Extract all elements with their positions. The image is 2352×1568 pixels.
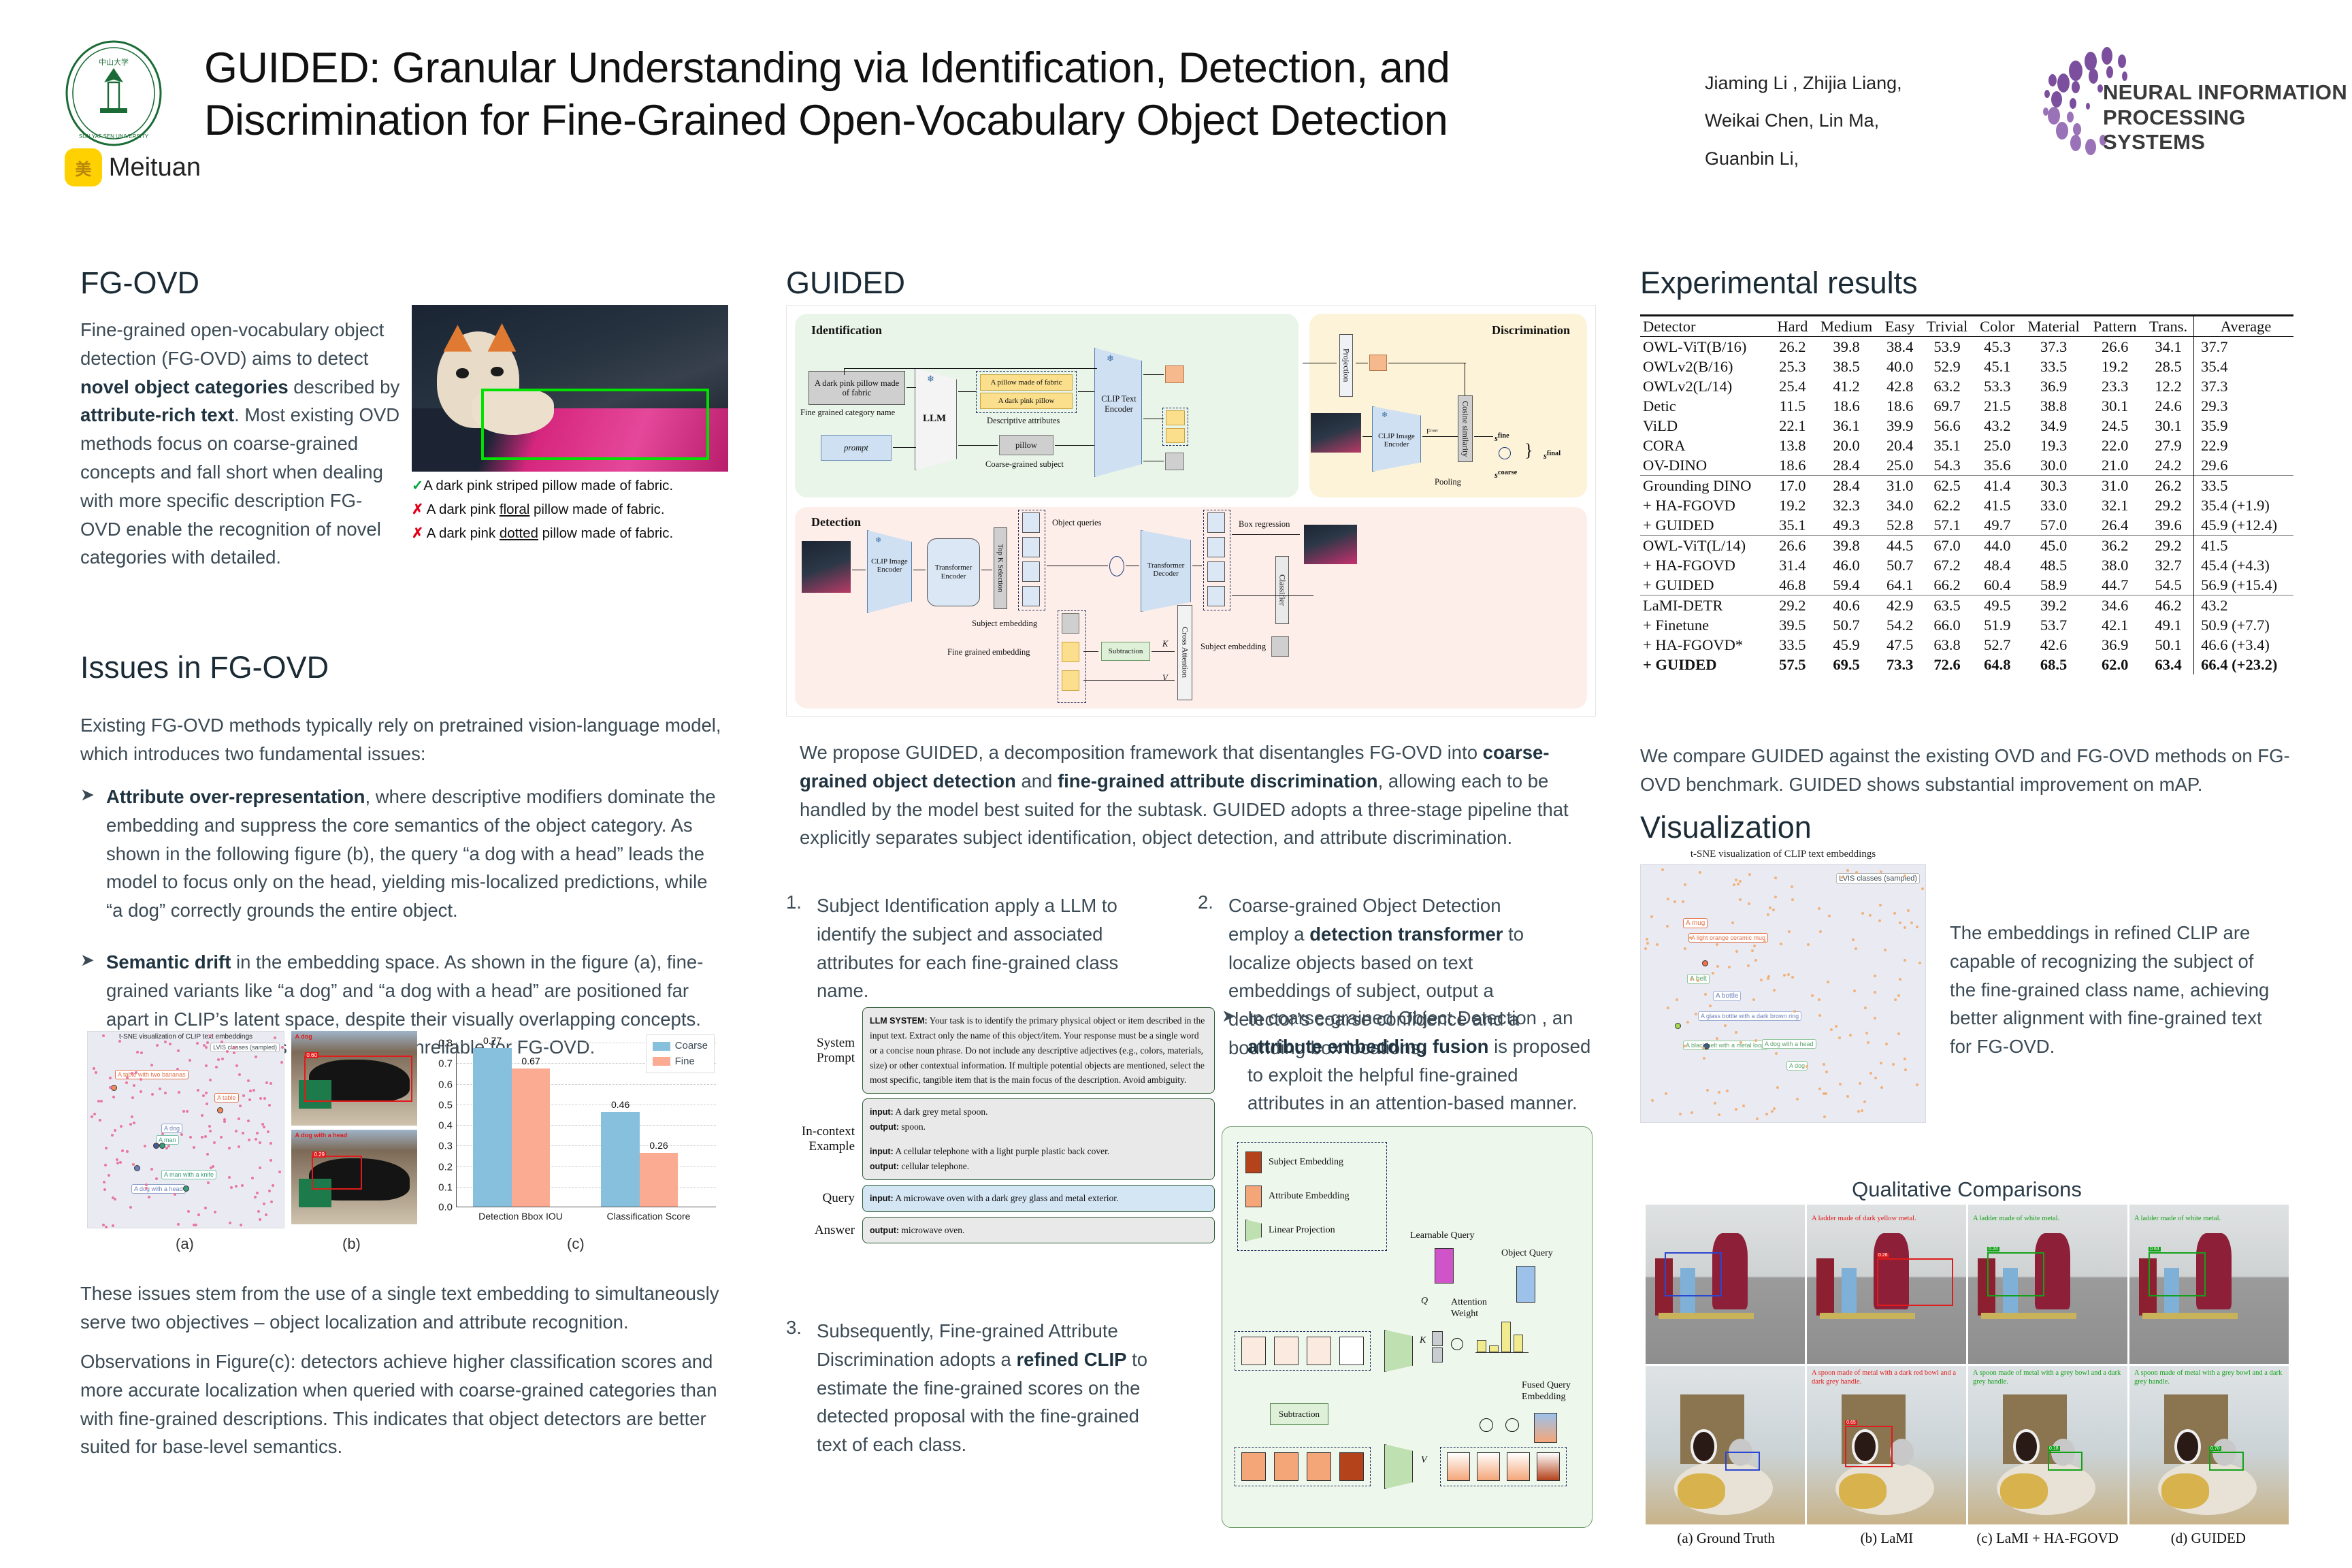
tsne-scatter-point: [91, 1115, 93, 1118]
linear-projection-v: [1384, 1444, 1413, 1489]
s-coarse-superscript: coarse: [1498, 469, 1517, 476]
prompt-side-label-answer: Answer: [786, 1217, 862, 1244]
f-conv-label: Fᶜᵒⁿᵛ: [1426, 428, 1438, 436]
table-cell: 42.9: [1880, 595, 1921, 616]
qualitative-score-badge: 0.18: [2048, 1446, 2060, 1451]
table-cell: 45.0: [2021, 536, 2087, 556]
flow-arrow: [906, 387, 916, 388]
table-row: OWL-ViT(L/14)26.639.844.567.044.045.036.…: [1640, 536, 2293, 556]
tsne-scatter-point: [1852, 938, 1855, 941]
descriptive-attributes-caption: Descriptive attributes: [987, 416, 1060, 426]
fused-query-embedding-block: [1534, 1413, 1557, 1443]
bar-chart-xtick: Classification Score: [585, 1211, 713, 1222]
qualitative-score-badge: 0.64: [2149, 1247, 2161, 1252]
tsne-scatter-point: [1892, 1063, 1895, 1066]
tsne-scatter-point: [210, 1166, 212, 1169]
cat-caption-2-underlined: floral: [500, 502, 529, 517]
table-cell: 64.1: [1880, 575, 1921, 595]
table-cell: 41.5: [1974, 495, 2021, 515]
guided-text-mid: and: [1016, 770, 1058, 791]
tsne-scatter-point: [150, 1064, 153, 1066]
bar-chart-ytick: 0.0: [438, 1202, 453, 1213]
tsne-scatter-point: [1709, 1004, 1712, 1007]
neurips-line-2: PROCESSING SYSTEMS: [2103, 105, 2352, 155]
tsne-scatter-point: [189, 1136, 192, 1139]
learnable-query-label: Learnable Query: [1410, 1230, 1474, 1241]
tsne-scatter-point: [145, 1183, 148, 1186]
table-cell: 49.3: [1813, 515, 1879, 536]
step-1-number: 1.: [786, 892, 806, 1005]
tsne-scatter-point: [1818, 998, 1820, 1001]
tsne-scatter-point: [1783, 974, 1786, 977]
table-cell: 64.8: [1974, 655, 2021, 674]
decoder-token: [1207, 586, 1225, 606]
legend-swatch-attribute-embedding: [1245, 1186, 1262, 1207]
object-queries-caption: Object queries: [1052, 518, 1102, 528]
qualitative-cell: A ladder made of dark yellow metal.0.26: [1807, 1205, 1966, 1364]
flow-arrow: [1143, 461, 1164, 461]
hose-shape: [2142, 1313, 2238, 1319]
flow-arrow: [844, 368, 845, 375]
table-cell: 19.2: [2087, 357, 2143, 376]
qualitative-bounding-box: [2048, 1452, 2082, 1471]
flow-arrow: [981, 570, 992, 570]
tsne-scatter-point: [213, 1141, 216, 1144]
ic-val-3: A cellular telephone with a light purple…: [894, 1146, 1110, 1156]
table-cell: 57.1: [1921, 515, 1974, 536]
table-row: + Finetune39.550.754.266.051.953.742.149…: [1640, 615, 2293, 635]
yellow-embedding-token: [1166, 410, 1185, 425]
table-cell: 32.3: [1813, 495, 1879, 515]
table-cell: OWL-ViT(B/16): [1640, 337, 1771, 357]
object-query-label: Object Query: [1501, 1248, 1553, 1259]
k-label: K: [1162, 639, 1168, 649]
tsne-scatter-point: [265, 1213, 267, 1216]
prompt-system-head: LLM SYSTEM:: [870, 1016, 928, 1026]
table-cell: 39.6: [2143, 515, 2194, 536]
table-cell: 26.4: [2087, 515, 2143, 536]
tsne-scatter-point: [1724, 1024, 1727, 1027]
qualitative-prediction-label: A ladder made of white metal.: [1973, 1214, 2123, 1223]
tsne-scatter-point: [131, 1115, 133, 1118]
tsne-scatter-point: [235, 1064, 238, 1067]
tsne-scatter-point: [1665, 1092, 1667, 1095]
tsne-scatter-point: [193, 1146, 195, 1149]
prompt-box: prompt: [821, 435, 892, 461]
legend-entry-fine: Fine: [653, 1054, 708, 1070]
table-cell: 60.4: [1974, 575, 2021, 595]
table-cell: 41.2: [1813, 376, 1879, 396]
flow-arrow: [844, 368, 1097, 369]
table-cell: 18.6: [1880, 396, 1921, 416]
table-cell: 23.3: [2087, 376, 2143, 396]
tsne-scatter-point: [1865, 1032, 1868, 1034]
tsne-scatter-point: [228, 1147, 231, 1149]
tsne-scatter-point: [1863, 1100, 1866, 1103]
tsne-scatter-point: [1765, 1113, 1768, 1115]
tsne-scatter-point: [1661, 868, 1664, 871]
table-cell: 33.5: [1771, 635, 1813, 655]
flow-arrow: [1143, 374, 1164, 375]
table-cell: 17.0: [1771, 476, 1813, 496]
tsne-scatter-point: [1716, 943, 1718, 946]
tsne-big-annotation-6: A dog with a head: [1762, 1039, 1816, 1049]
table-row: + HA-FGOVD19.232.334.062.241.533.032.129…: [1640, 495, 2293, 515]
tsne-scatter-point: [116, 1158, 118, 1161]
subject-embedding-caption-right: Subject embedding: [1200, 642, 1266, 652]
query-key: input:: [870, 1194, 894, 1203]
table-cell: 20.4: [1880, 436, 1921, 455]
table-header-pattern: Pattern: [2087, 316, 2143, 337]
table-body: OWL-ViT(B/16)26.239.838.453.945.337.326.…: [1640, 337, 2293, 675]
tsne-scatter-point: [1818, 1014, 1821, 1017]
legend-label-attribute-embedding: Attribute Embedding: [1269, 1191, 1350, 1202]
tsne-scatter-point: [278, 1171, 281, 1173]
grey-embedding-token: [1165, 453, 1184, 470]
table-cell: 48.5: [2021, 555, 2087, 575]
table-cell: 36.1: [1813, 416, 1879, 436]
tsne-scatter-point: [1857, 1110, 1860, 1113]
table-cell: 46.2: [2143, 595, 2194, 616]
table-cell: 29.2: [1771, 595, 1813, 616]
tsne-scatter-point: [1819, 930, 1822, 933]
table-cell: 56.6: [1921, 416, 1974, 436]
qualitative-cell: A spoon made of metal with a grey bowl a…: [2129, 1366, 2289, 1525]
tsne-scatter-point: [193, 1224, 195, 1226]
bar-value-label: 0.46: [601, 1099, 639, 1110]
tsne-scatter-point: [247, 1120, 250, 1122]
attr-token: [1307, 1337, 1331, 1365]
tsne-scatter-point: [103, 1188, 106, 1191]
table-cell: OV-DINO: [1640, 455, 1771, 476]
tsne-scatter-point: [174, 1193, 176, 1196]
clip-text-encoder-label: CLIP Text Encoder: [1098, 394, 1139, 414]
table-row: OWLv2(B/16)25.338.540.052.945.133.519.22…: [1640, 357, 2293, 376]
table-cell: 28.4: [1813, 476, 1879, 496]
s-fine-label: sfine: [1494, 432, 1509, 444]
table-cell: 33.5: [2021, 357, 2087, 376]
table-cell: 62.5: [1921, 476, 1974, 496]
table-cell: 39.5: [1771, 615, 1813, 635]
tsne-small-title: t-SNE visualization of CLIP text embeddi…: [88, 1033, 284, 1041]
figure-label-c: (c): [567, 1235, 585, 1253]
table-cell: 26.6: [1771, 536, 1813, 556]
bar-chart-ytick: 0.1: [438, 1181, 453, 1193]
subject-embedding-caption: Subject embedding: [972, 619, 1037, 629]
table-cell: 29.3: [2194, 396, 2293, 416]
table-cell: 66.0: [1921, 615, 1974, 635]
table-row: + GUIDED35.149.352.857.149.757.026.439.6…: [1640, 515, 2293, 536]
tsne-scatter-point: [207, 1181, 210, 1184]
tsne-scatter-point: [104, 1164, 107, 1166]
tsne-scatter-point: [126, 1077, 129, 1079]
tsne-scatter-point: [214, 1211, 216, 1213]
prompt-side-label-query: Query: [786, 1185, 862, 1212]
tsne-scatter-point: [1828, 915, 1831, 917]
prompt-system-body: LLM SYSTEM: Your task is to identify the…: [862, 1007, 1215, 1094]
clip-image-encoder-label: CLIP Image Encoder: [1375, 432, 1418, 448]
qualitative-prediction-label: A spoon made of metal with a grey bowl a…: [1973, 1369, 2123, 1386]
qualitative-prediction-label: A ladder made of white metal.: [2134, 1214, 2284, 1223]
tsne-scatter-point: [109, 1086, 112, 1089]
ic-spacer: [870, 1134, 1207, 1144]
svg-text:中山大学: 中山大学: [99, 57, 129, 67]
tsne-scatter-point: [1904, 1068, 1907, 1071]
snowflake-icon: ❄: [1382, 410, 1388, 419]
tsne-point-highlight: [183, 1186, 189, 1192]
arrow-bullet-icon: ➤: [1222, 1004, 1237, 1117]
table-cell: 47.5: [1880, 635, 1921, 655]
table-row: Detic11.518.618.669.721.538.830.124.629.…: [1640, 396, 2293, 416]
bar-chart-xtick: Detection Bbox IOU: [457, 1211, 585, 1222]
tsne-scatter-point: [1864, 1007, 1867, 1009]
tsne-scatter-point: [204, 1207, 207, 1209]
tsne-scatter-point: [263, 1097, 266, 1100]
tsne-scatter-point: [1735, 879, 1737, 881]
tsne-scatter-point: [140, 1078, 142, 1081]
tsne-scatter-point: [1897, 994, 1900, 997]
table-cell: 44.0: [1974, 536, 2021, 556]
tsne-scatter-point: [268, 1104, 271, 1107]
step-3-bold: refined CLIP: [1016, 1349, 1126, 1370]
q-label: Q: [1421, 1296, 1428, 1307]
tsne-scatter-point: [1835, 1025, 1837, 1028]
tsne-scatter-point: [267, 1130, 269, 1133]
table-cell: 38.8: [2021, 396, 2087, 416]
tsne-scatter-point: [161, 1132, 164, 1135]
tsne-big-plot: LVIS classes (sampled) A mug A light ora…: [1640, 864, 1926, 1123]
svg-text:SUN YAT-SEN UNIVERSITY: SUN YAT-SEN UNIVERSITY: [79, 133, 149, 140]
tsne-scatter-point: [1838, 1036, 1841, 1039]
table-cell: 21.5: [1974, 396, 2021, 416]
coarse-subject-box: pillow: [999, 435, 1053, 455]
discrimination-title: Discrimination: [1492, 323, 1570, 338]
table-cell: 33.0: [2021, 495, 2087, 515]
table-cell: + Finetune: [1640, 615, 1771, 635]
fgovd-text-pre: Fine-grained open-vocabulary object dete…: [80, 319, 384, 369]
tsne-scatter-point: [1731, 921, 1734, 924]
ic-key-1: input:: [870, 1107, 894, 1117]
bar-chart-legend: Coarse Fine: [646, 1034, 715, 1073]
flow-arrow: [1151, 651, 1175, 652]
tsne-scatter-point: [1697, 979, 1699, 982]
tsne-scatter-point: [248, 1098, 251, 1101]
tsne-scatter-point: [269, 1082, 272, 1085]
cross-icon: ✗: [412, 502, 423, 517]
tsne-scatter-point: [1735, 1108, 1737, 1111]
tsne-scatter-point: [1735, 950, 1738, 953]
qualitative-cell: A ladder made of white metal.0.64: [2129, 1205, 2289, 1364]
section-heading-visualization: Visualization: [1640, 810, 1812, 845]
fused-query-embedding-label: Fused QueryEmbedding: [1522, 1380, 1578, 1403]
tsne-scatter-point: [1811, 994, 1814, 997]
tsne-scatter-point: [1921, 887, 1924, 890]
tsne-scatter-point: [1651, 1099, 1654, 1102]
attr-token: [1274, 1452, 1298, 1481]
prompt-incontext-body: input: A dark grey metal spoon. output: …: [862, 1098, 1215, 1179]
guided-bold-2: fine-grained attribute discrimination: [1058, 770, 1378, 791]
tsne-scatter-point: [256, 1132, 259, 1134]
tsne-scatter-point: [1733, 883, 1735, 886]
flow-arrow: [1474, 436, 1493, 437]
table-cell: 12.2: [2143, 376, 2194, 396]
table-cell: 50.7: [1880, 555, 1921, 575]
tsne-scatter-point: [265, 1081, 268, 1084]
table-cell: 36.2: [2087, 536, 2143, 556]
table-row: + HA-FGOVD31.446.050.767.248.448.538.032…: [1640, 555, 2293, 575]
table-cell: 73.3: [1880, 655, 1921, 674]
tsne-scatter-point: [1885, 1043, 1888, 1045]
tsne-scatter-point: [1788, 930, 1791, 933]
table-row: + GUIDED57.569.573.372.664.868.562.063.4…: [1640, 655, 2293, 674]
author-line-1: Jiaming Li , Zhijia Liang,: [1705, 65, 1929, 102]
tsne-point-highlight: [217, 1107, 223, 1113]
fusion-bullet: ➤ In coarse-grained Object Detection , a…: [1222, 1004, 1592, 1141]
classifier-label: Classifier: [1275, 556, 1289, 624]
tsne-point-highlight: [1675, 1023, 1681, 1029]
detection-title: Detection: [811, 515, 861, 529]
table-cell: 34.6: [2087, 595, 2143, 616]
tsne-scatter-point: [100, 1100, 103, 1102]
table-cell: 62.0: [2087, 655, 2143, 674]
tsne-scatter-point: [1869, 1072, 1872, 1075]
v-label: V: [1421, 1455, 1427, 1466]
tsne-scatter-point: [1754, 959, 1757, 962]
prompt-row-answer: Answer output: microwave oven.: [786, 1217, 1215, 1244]
table-row: CORA13.820.020.435.125.019.322.027.922.9: [1640, 436, 2293, 455]
tsne-scatter-point: [233, 1046, 236, 1049]
tsne-scatter-point: [1855, 947, 1857, 950]
table-cell: 45.9: [1813, 635, 1879, 655]
tsne-scatter-point: [206, 1153, 209, 1156]
ic-key-4: output:: [870, 1162, 899, 1171]
table-cell: 38.5: [1813, 357, 1879, 376]
tsne-scatter-point: [164, 1041, 167, 1043]
table-cell: 31.0: [2087, 476, 2143, 496]
tsne-scatter-point: [209, 1079, 212, 1081]
tsne-scatter-point: [1776, 1086, 1779, 1089]
table-cell: OWL-ViT(L/14): [1640, 536, 1771, 556]
tsne-scatter-point: [93, 1067, 95, 1070]
tsne-scatter-point: [1867, 1041, 1869, 1044]
tsne-scatter-point: [1763, 941, 1766, 943]
tsne-scatter-point: [235, 1185, 238, 1188]
legend-label-subject-embedding: Subject Embedding: [1269, 1157, 1343, 1168]
table-cell: 25.3: [1771, 357, 1813, 376]
attr-token: [1241, 1337, 1266, 1365]
tsne-scatter-point: [223, 1120, 226, 1123]
tsne-scatter-point: [1884, 949, 1886, 951]
tsne-scatter-point: [259, 1141, 261, 1144]
bar-value-label: 0.77: [473, 1035, 511, 1046]
tsne-big-annotation-3: A bottle: [1713, 991, 1741, 1001]
attr-token: [1307, 1452, 1331, 1481]
tsne-scatter-point: [1690, 1111, 1693, 1114]
tsne-scatter-point: [1695, 1013, 1697, 1015]
tsne-scatter-point: [116, 1162, 119, 1164]
tsne-scatter-point: [1673, 900, 1676, 903]
table-cell: 25.0: [1974, 436, 2021, 455]
table-header-hard: Hard: [1771, 316, 1813, 337]
step-3-number: 3.: [786, 1317, 806, 1459]
table-cell: 20.0: [1813, 436, 1879, 455]
table-cell: 32.1: [2087, 495, 2143, 515]
bar-chart-ytick: 0.3: [438, 1141, 453, 1152]
tsne-scatter-point: [1699, 871, 1701, 874]
tsne-scatter-point: [187, 1210, 190, 1213]
tsne-scatter-point: [1739, 898, 1742, 901]
neurips-line-1: NEURAL INFORMATION: [2103, 80, 2352, 105]
tsne-scatter-point: [268, 1190, 271, 1192]
attr-token-subject: [1339, 1452, 1364, 1481]
tsne-scatter-point: [1874, 1017, 1876, 1019]
tsne-scatter-point: [1650, 915, 1653, 918]
tsne-scatter-point: [1874, 991, 1876, 994]
tsne-small-legend: LVIS classes (sampled): [210, 1043, 280, 1052]
subtraction-box: Subtraction: [1101, 642, 1150, 661]
table-cell: 45.1: [1974, 357, 2021, 376]
tsne-scatter-point: [114, 1129, 116, 1132]
table-cell: 53.7: [2021, 615, 2087, 635]
tsne-scatter-point: [178, 1091, 180, 1094]
tsne-scatter-point: [1679, 1113, 1682, 1115]
tsne-scatter-point: [252, 1089, 255, 1092]
qualitative-cell: [1646, 1205, 1805, 1364]
table-cell: 52.8: [1880, 515, 1921, 536]
table-cell: 44.5: [1880, 536, 1921, 556]
table-cell: 49.5: [1974, 595, 2021, 616]
bar-chart-group: 0.770.67Detection Bbox IOU: [457, 1043, 585, 1207]
table-cell: 37.3: [2021, 337, 2087, 357]
tsne-scatter-point: [206, 1041, 209, 1044]
qualitative-comparisons-grid: A ladder made of dark yellow metal.0.26A…: [1646, 1205, 2289, 1524]
ic-val-2: spoon.: [899, 1122, 926, 1132]
table-cell: 18.6: [1771, 455, 1813, 476]
tsne-scatter-point: [1899, 978, 1901, 981]
tsne-scatter-point: [202, 1094, 205, 1097]
tsne-scatter-point: [1823, 1063, 1825, 1066]
tsne-scatter-point: [1878, 919, 1881, 922]
table-cell: 49.1: [2143, 615, 2194, 635]
tsne-scatter-point: [1897, 1032, 1900, 1035]
attribute-fusion-diagram: Subject Embedding Attribute Embedding Li…: [1222, 1126, 1592, 1528]
tsne-annotation-2: A dog: [161, 1124, 182, 1133]
person-shape: [1842, 1268, 1856, 1316]
tsne-scatter-point: [221, 1058, 224, 1060]
tsne-scatter-point: [269, 1159, 272, 1162]
tsne-scatter-point: [1704, 993, 1707, 996]
tsne-scatter-point: [119, 1161, 122, 1164]
flow-arrow: [1047, 566, 1108, 566]
table-cell: 35.1: [1771, 515, 1813, 536]
attribute-box-1: A pillow made of fabric: [980, 374, 1073, 391]
bar-value-label: 0.67: [512, 1056, 550, 1066]
flow-arrow: [1055, 445, 1094, 446]
tsne-scatter-point: [1737, 883, 1739, 885]
fine-grained-caption: Fine grained category name: [800, 408, 895, 418]
table-header-easy: Easy: [1880, 316, 1921, 337]
table-cell: 22.1: [1771, 416, 1813, 436]
qual-caption-b: (b) LaMI: [1806, 1530, 1967, 1547]
table-cell: 11.5: [1771, 396, 1813, 416]
tsne-scatter-point: [1703, 1057, 1705, 1060]
section-heading-experimental-results: Experimental results: [1640, 265, 2321, 301]
table-cell: 22.0: [2087, 436, 2143, 455]
table-cell: 32.7: [2143, 555, 2194, 575]
linear-projection-k: [1384, 1330, 1413, 1372]
tsne-scatter-point: [1910, 921, 1913, 924]
table-cell: 54.5: [2143, 575, 2194, 595]
